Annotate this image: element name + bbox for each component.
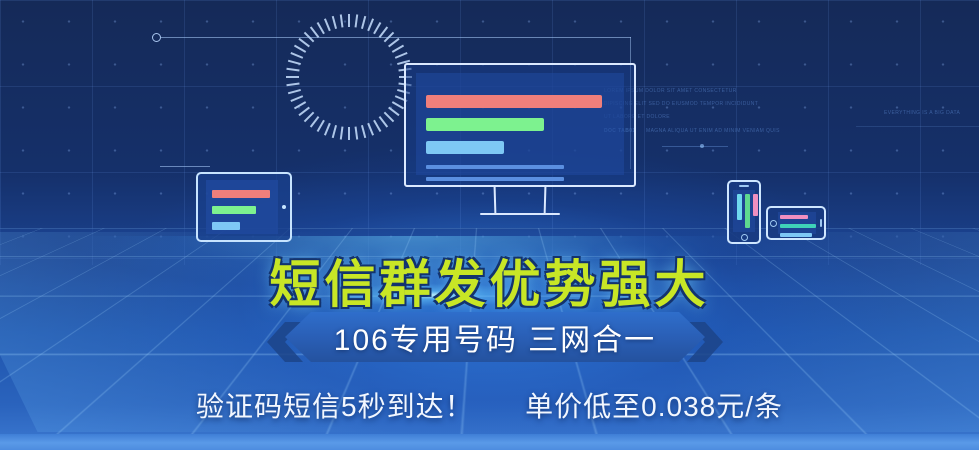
phone-portrait-frame — [727, 180, 761, 244]
tablet-home-dot-icon — [282, 205, 286, 209]
ribbon-banner: 106专用号码 三网合一 — [285, 312, 705, 362]
ribbon-label: 106专用号码 三网合一 — [285, 312, 705, 362]
connector-wire — [161, 37, 631, 38]
phone-portrait — [727, 180, 761, 244]
page-title: 短信群发优势强大 — [0, 243, 979, 317]
sms-promo-banner: LOREM IPSUM DOLOR SIT AMET CONSECTETUR A… — [0, 0, 979, 450]
tagline-left-text: 验证码短信5秒到达！ — [196, 391, 474, 422]
decor-rule — [662, 146, 728, 147]
decor-rule — [856, 126, 979, 127]
phone-portrait-screen — [733, 190, 755, 232]
monitor-content-bar — [426, 95, 602, 108]
tablet-content-bar — [212, 190, 270, 198]
connector-wire — [160, 166, 210, 167]
phone-home-button-icon — [741, 234, 748, 241]
phone-content-bar — [780, 215, 808, 219]
phone-speaker-icon — [820, 219, 822, 227]
tablet-frame — [196, 172, 292, 242]
phone-landscape-frame — [766, 206, 826, 240]
monitor-content-bar — [426, 141, 504, 154]
phone-home-button-icon — [770, 220, 777, 227]
monitor-content-line — [426, 177, 564, 181]
phone-landscape-screen — [778, 212, 816, 234]
phone-speaker-icon — [739, 185, 749, 187]
monitor-content-bar — [426, 118, 544, 131]
monitor-stand-neck — [494, 187, 547, 215]
monitor-frame — [404, 63, 636, 187]
tablet-device — [196, 172, 292, 242]
tablet-content-bar — [212, 222, 240, 230]
decor-text-line: MAGNA ALIQUA UT ENIM AD MINIM VENIAM QUI… — [646, 128, 780, 134]
monitor-screen — [416, 73, 624, 175]
bottom-edge-strip — [0, 434, 979, 450]
phone-content-bar — [780, 224, 816, 228]
decor-dot — [700, 144, 704, 148]
monitor-content-line — [426, 165, 564, 169]
phone-landscape — [766, 206, 826, 240]
node-circle-icon — [152, 33, 161, 42]
tagline-right-text: 单价低至0.038元/条 — [525, 391, 783, 422]
phone-content-bar — [737, 194, 742, 220]
tablet-screen — [206, 180, 278, 234]
decor-text-far-right: EVERYTHING IS A BIG DATA — [884, 110, 960, 116]
phone-content-bar — [753, 194, 758, 216]
phone-content-bar — [745, 194, 750, 228]
radial-dial-icon — [286, 14, 412, 140]
tablet-content-bar — [212, 206, 256, 214]
phone-content-bar — [780, 233, 812, 237]
tagline: 验证码短信5秒到达！ 单价低至0.038元/条 — [0, 385, 979, 425]
monitor-stand-base — [480, 213, 560, 215]
desktop-monitor — [404, 63, 636, 223]
